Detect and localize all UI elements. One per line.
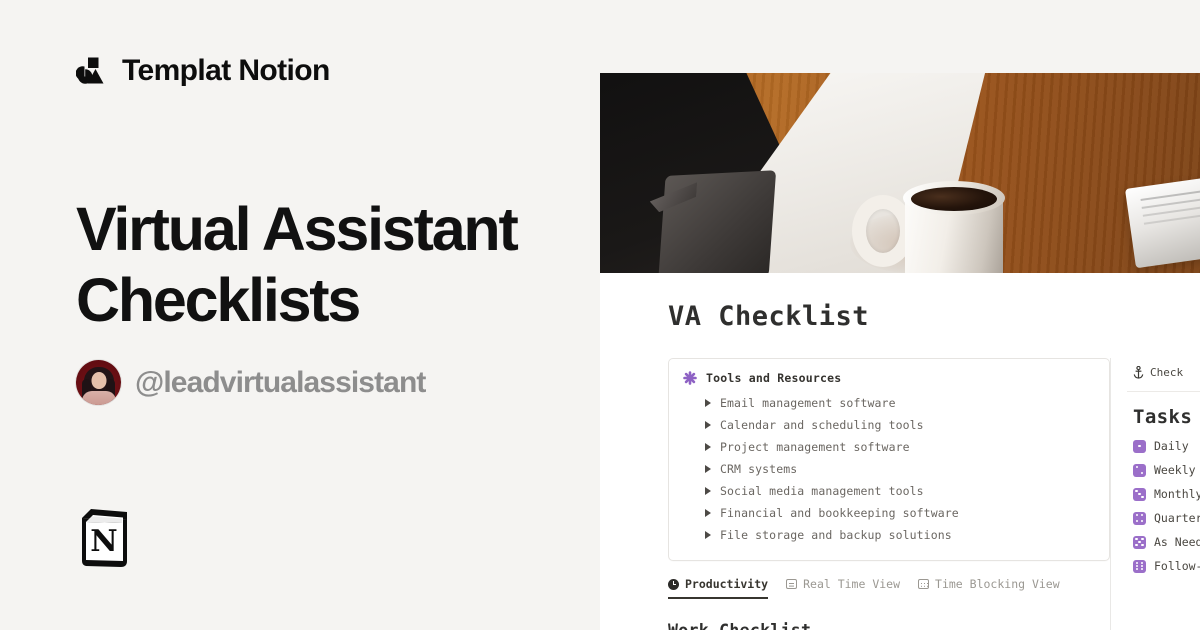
die-1-icon bbox=[1133, 440, 1146, 453]
toggle-item-label: File storage and backup solutions bbox=[720, 528, 952, 542]
sidebar-item-as-needed[interactable]: As Needed bbox=[1127, 530, 1200, 554]
die-5-icon bbox=[1133, 536, 1146, 549]
tab-real-time-view[interactable]: Real Time View bbox=[786, 577, 900, 599]
chevron-right-icon[interactable] bbox=[705, 531, 711, 539]
chevron-right-icon[interactable] bbox=[705, 487, 711, 495]
toggle-item-label: Calendar and scheduling tools bbox=[720, 418, 924, 432]
toggle-list-item[interactable]: Project management software bbox=[683, 436, 1095, 458]
chevron-right-icon[interactable] bbox=[705, 443, 711, 451]
sidebar-item-label: Quarterly bbox=[1154, 511, 1200, 525]
grid-icon bbox=[918, 579, 929, 589]
document-body: VA Checklist bbox=[600, 273, 1200, 630]
tab-label: Productivity bbox=[685, 577, 768, 591]
die-4-icon bbox=[1133, 512, 1146, 525]
cover-photo bbox=[600, 73, 1200, 273]
chevron-right-icon[interactable] bbox=[705, 421, 711, 429]
shapes-logo-icon bbox=[76, 56, 108, 86]
brand-header[interactable]: Templat Notion bbox=[76, 56, 330, 86]
sidebar-item-monthly[interactable]: Monthly bbox=[1127, 482, 1200, 506]
anchor-icon bbox=[1133, 366, 1144, 379]
sidebar-item-label: Follow-up bbox=[1154, 559, 1200, 573]
die-3-icon bbox=[1133, 488, 1146, 501]
sidebar-check-item[interactable]: Check bbox=[1127, 358, 1200, 392]
view-tabs[interactable]: Productivity Real Time View Time Blockin… bbox=[668, 577, 1110, 599]
chevron-right-icon[interactable] bbox=[705, 509, 711, 517]
tab-productivity[interactable]: Productivity bbox=[668, 577, 768, 599]
sidebar-check-label: Check bbox=[1150, 366, 1183, 379]
doc-side-column: Check Tasks Daily Weekly Monthly bbox=[1110, 358, 1200, 630]
toggle-item-label: Financial and bookkeeping software bbox=[720, 506, 959, 520]
doc-main-column: Tools and Resources Email management sof… bbox=[600, 358, 1110, 630]
chevron-right-icon[interactable] bbox=[705, 399, 711, 407]
toggle-item-label: Email management software bbox=[720, 396, 896, 410]
notion-cube-icon: N bbox=[77, 506, 135, 568]
toggle-box-header-label: Tools and Resources bbox=[706, 371, 841, 385]
tab-label: Real Time View bbox=[803, 577, 900, 591]
toggle-list-item[interactable]: Calendar and scheduling tools bbox=[683, 414, 1095, 436]
page-title: Virtual Assistant Checklists bbox=[76, 194, 596, 337]
sidebar-title: Tasks bbox=[1127, 392, 1200, 434]
sidebar-item-quarterly[interactable]: Quarterly bbox=[1127, 506, 1200, 530]
author-row[interactable]: @leadvirtualassistant bbox=[76, 360, 425, 405]
toggle-list-item[interactable]: Email management software bbox=[683, 392, 1095, 414]
author-handle: @leadvirtualassistant bbox=[135, 366, 425, 400]
doc-title: VA Checklist bbox=[600, 301, 1200, 332]
toggle-list-item[interactable]: Social media management tools bbox=[683, 480, 1095, 502]
chevron-right-icon[interactable] bbox=[705, 465, 711, 473]
toggle-item-label: CRM systems bbox=[720, 462, 797, 476]
die-2-icon bbox=[1133, 464, 1146, 477]
notion-template-preview[interactable]: VA Checklist bbox=[600, 73, 1200, 630]
die-6-icon bbox=[1133, 560, 1146, 573]
svg-text:N: N bbox=[90, 524, 117, 559]
sidebar-item-label: Weekly bbox=[1154, 463, 1196, 477]
tab-time-blocking-view[interactable]: Time Blocking View bbox=[918, 577, 1060, 599]
template-preview-page: Templat Notion Virtual Assistant Checkli… bbox=[0, 0, 1200, 630]
left-column: Templat Notion Virtual Assistant Checkli… bbox=[0, 0, 600, 630]
toggle-list-item[interactable]: Financial and bookkeeping software bbox=[683, 502, 1095, 524]
toggle-list-item[interactable]: File storage and backup solutions bbox=[683, 524, 1095, 546]
toggle-item-label: Social media management tools bbox=[720, 484, 924, 498]
clock-icon bbox=[668, 579, 679, 590]
work-checklist-title: Work Checklist bbox=[668, 621, 1110, 630]
avatar bbox=[76, 360, 121, 405]
tab-label: Time Blocking View bbox=[935, 577, 1060, 591]
sidebar-item-follow-up[interactable]: Follow-up bbox=[1127, 554, 1200, 578]
sidebar-item-daily[interactable]: Daily bbox=[1127, 434, 1200, 458]
toggle-box-header: Tools and Resources bbox=[683, 371, 1095, 385]
sidebar-item-label: Monthly bbox=[1154, 487, 1200, 501]
brand-title: Templat Notion bbox=[122, 56, 330, 86]
document-icon bbox=[786, 579, 797, 589]
toggle-list-item[interactable]: CRM systems bbox=[683, 458, 1095, 480]
tools-and-resources-box[interactable]: Tools and Resources Email management sof… bbox=[668, 358, 1110, 561]
sidebar-item-weekly[interactable]: Weekly bbox=[1127, 458, 1200, 482]
sidebar-item-label: Daily bbox=[1154, 439, 1189, 453]
toggle-item-label: Project management software bbox=[720, 440, 910, 454]
sparkle-emoji-icon bbox=[683, 371, 697, 385]
sidebar-item-label: As Needed bbox=[1154, 535, 1200, 549]
